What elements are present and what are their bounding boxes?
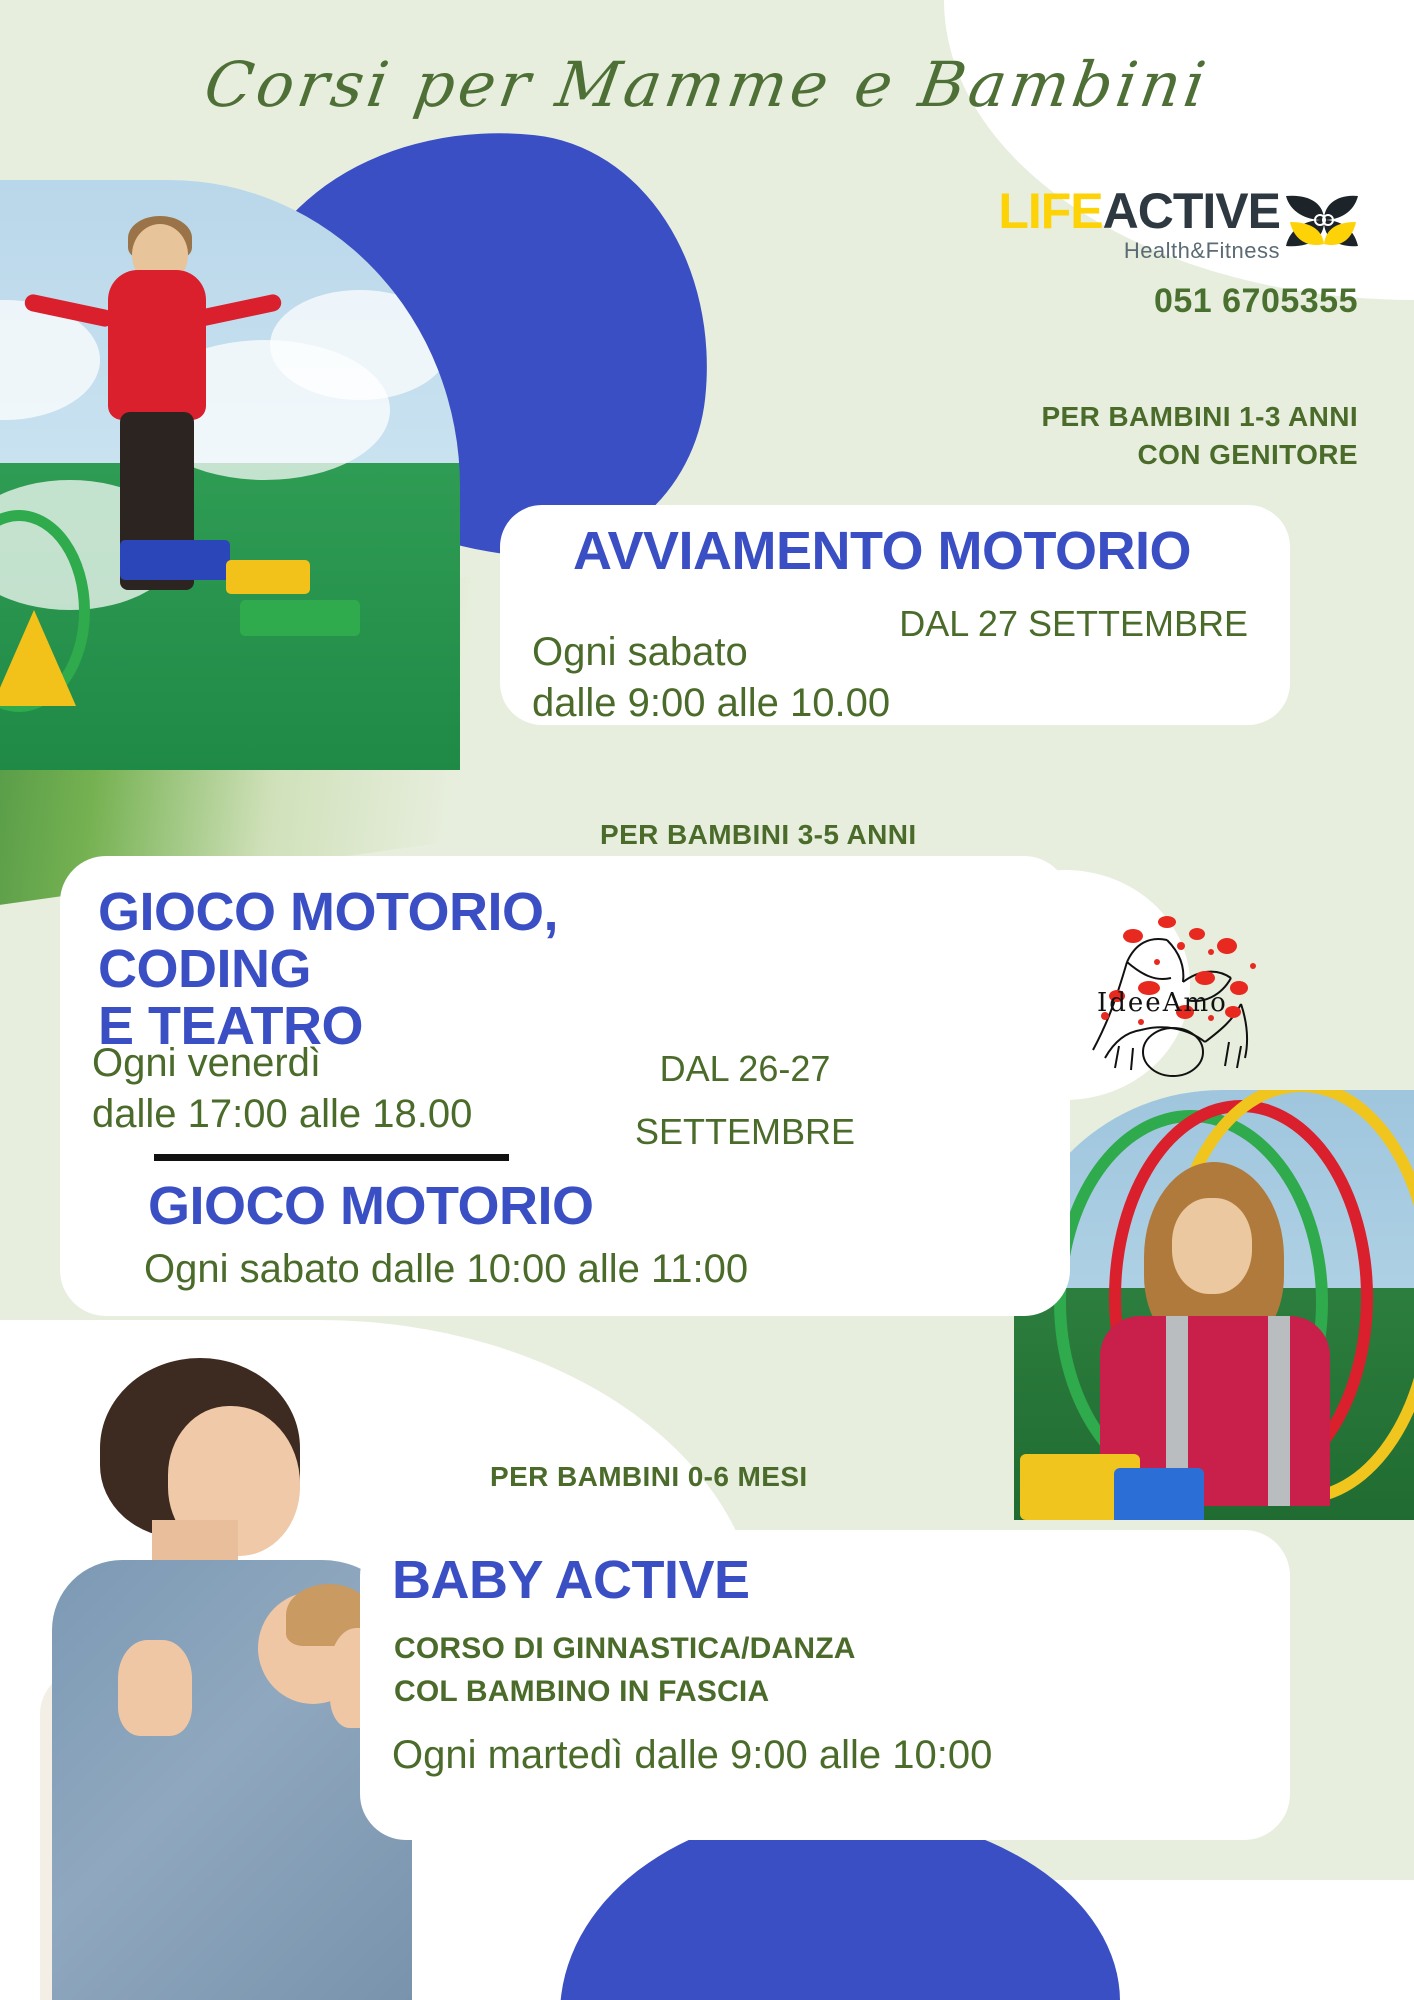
green-block — [240, 600, 360, 636]
course-card-avviamento-motorio: AVVIAMENTO MOTORIO DAL 27 SETTEMBRE Ogni… — [500, 505, 1290, 725]
logo-active-text: ACTIVE — [1103, 186, 1280, 236]
course-title: AVVIAMENTO MOTORIO — [500, 523, 1264, 580]
eyebrow-line-1: PER BAMBINI 1-3 ANNI — [1041, 398, 1358, 436]
ideeamo-logo: IdeeAmo — [1075, 900, 1275, 1090]
child-hoops-photo — [1014, 1090, 1414, 1520]
eyebrow-line-1: PER BAMBINI 0-6 MESI — [490, 1458, 808, 1496]
course-title: GIOCO MOTORIO, CODING E TEATRO — [98, 884, 778, 1056]
logo-wordmark: LIFE ACTIVE — [998, 186, 1280, 236]
course-schedule-secondary: Ogni sabato dalle 10:00 alle 11:00 — [144, 1244, 748, 1295]
phone-number[interactable]: 051 6705355 — [1154, 282, 1358, 321]
eyebrow-line-2: CON GENITORE — [1041, 436, 1358, 474]
eyebrow-age-1-3: PER BAMBINI 1-3 ANNI CON GENITORE — [1041, 398, 1358, 474]
course-title-secondary: GIOCO MOTORIO — [148, 1178, 594, 1235]
course-start-date: DAL 26-27 SETTEMBRE — [620, 1046, 870, 1156]
course-card-baby-active: BABY ACTIVE CORSO DI GINNASTICA/DANZA CO… — [360, 1530, 1290, 1840]
divider-rule — [154, 1154, 509, 1161]
eyebrow-age-3-5: PER BAMBINI 3-5 ANNI — [600, 816, 917, 854]
subtitle-line-1: CORSO DI GINNASTICA/DANZA — [394, 1628, 856, 1671]
jacket-stripe — [1268, 1316, 1290, 1506]
eyebrow-age-0-6-months: PER BAMBINI 0-6 MESI — [490, 1458, 808, 1496]
child-red-top — [108, 270, 206, 420]
course-card-gioco-motorio: GIOCO MOTORIO, CODING E TEATRO Ogni vene… — [60, 856, 1070, 1316]
logo-life-text: LIFE — [998, 186, 1102, 236]
subtitle-line-2: COL BAMBINO IN FASCIA — [394, 1671, 856, 1714]
start-date-line-2: SETTEMBRE — [620, 1109, 870, 1156]
course-schedule: Ogni venerdì dalle 17:00 alle 18.00 — [92, 1038, 472, 1140]
cloud-shape — [270, 290, 450, 400]
yellow-block — [226, 560, 310, 594]
course-subtitle: CORSO DI GINNASTICA/DANZA COL BAMBINO IN… — [394, 1628, 856, 1713]
eyebrow-line-1: PER BAMBINI 3-5 ANNI — [600, 816, 917, 854]
mother-hand-left — [118, 1640, 192, 1736]
schedule-line-2: dalle 9:00 alle 10.00 — [532, 678, 890, 729]
bee-icon — [1284, 192, 1360, 257]
child-face — [1172, 1198, 1252, 1294]
page-title: Corsi per Mamme e Bambini — [0, 48, 1414, 121]
yellow-cone — [0, 610, 76, 706]
schedule-line-1: Ogni sabato — [532, 627, 890, 678]
course-schedule: Ogni sabato dalle 9:00 alle 10.00 — [532, 627, 890, 729]
poster-canvas: Corsi per Mamme e Bambini LIFE ACTIVE He… — [0, 0, 1414, 2000]
course-title: BABY ACTIVE — [392, 1552, 750, 1609]
logo-tagline: Health&Fitness — [998, 238, 1280, 264]
logo-text: LIFE ACTIVE Health&Fitness — [998, 186, 1280, 264]
schedule-line-1: Ogni venerdì — [92, 1038, 472, 1089]
blue-block — [120, 540, 230, 580]
start-date-line-1: DAL 26-27 — [620, 1046, 870, 1093]
course-start-date: DAL 27 SETTEMBRE — [899, 601, 1248, 648]
course-title-line-1: GIOCO MOTORIO, CODING — [98, 884, 778, 998]
schedule-line-2: dalle 17:00 alle 18.00 — [92, 1089, 472, 1140]
course-schedule: Ogni martedì dalle 9:00 alle 10:00 — [392, 1730, 992, 1781]
ideeamo-wordmark: IdeeAmo — [1097, 988, 1228, 1018]
life-active-logo: LIFE ACTIVE Health&Fitness — [998, 186, 1360, 264]
blue-foam-block — [1114, 1468, 1204, 1520]
